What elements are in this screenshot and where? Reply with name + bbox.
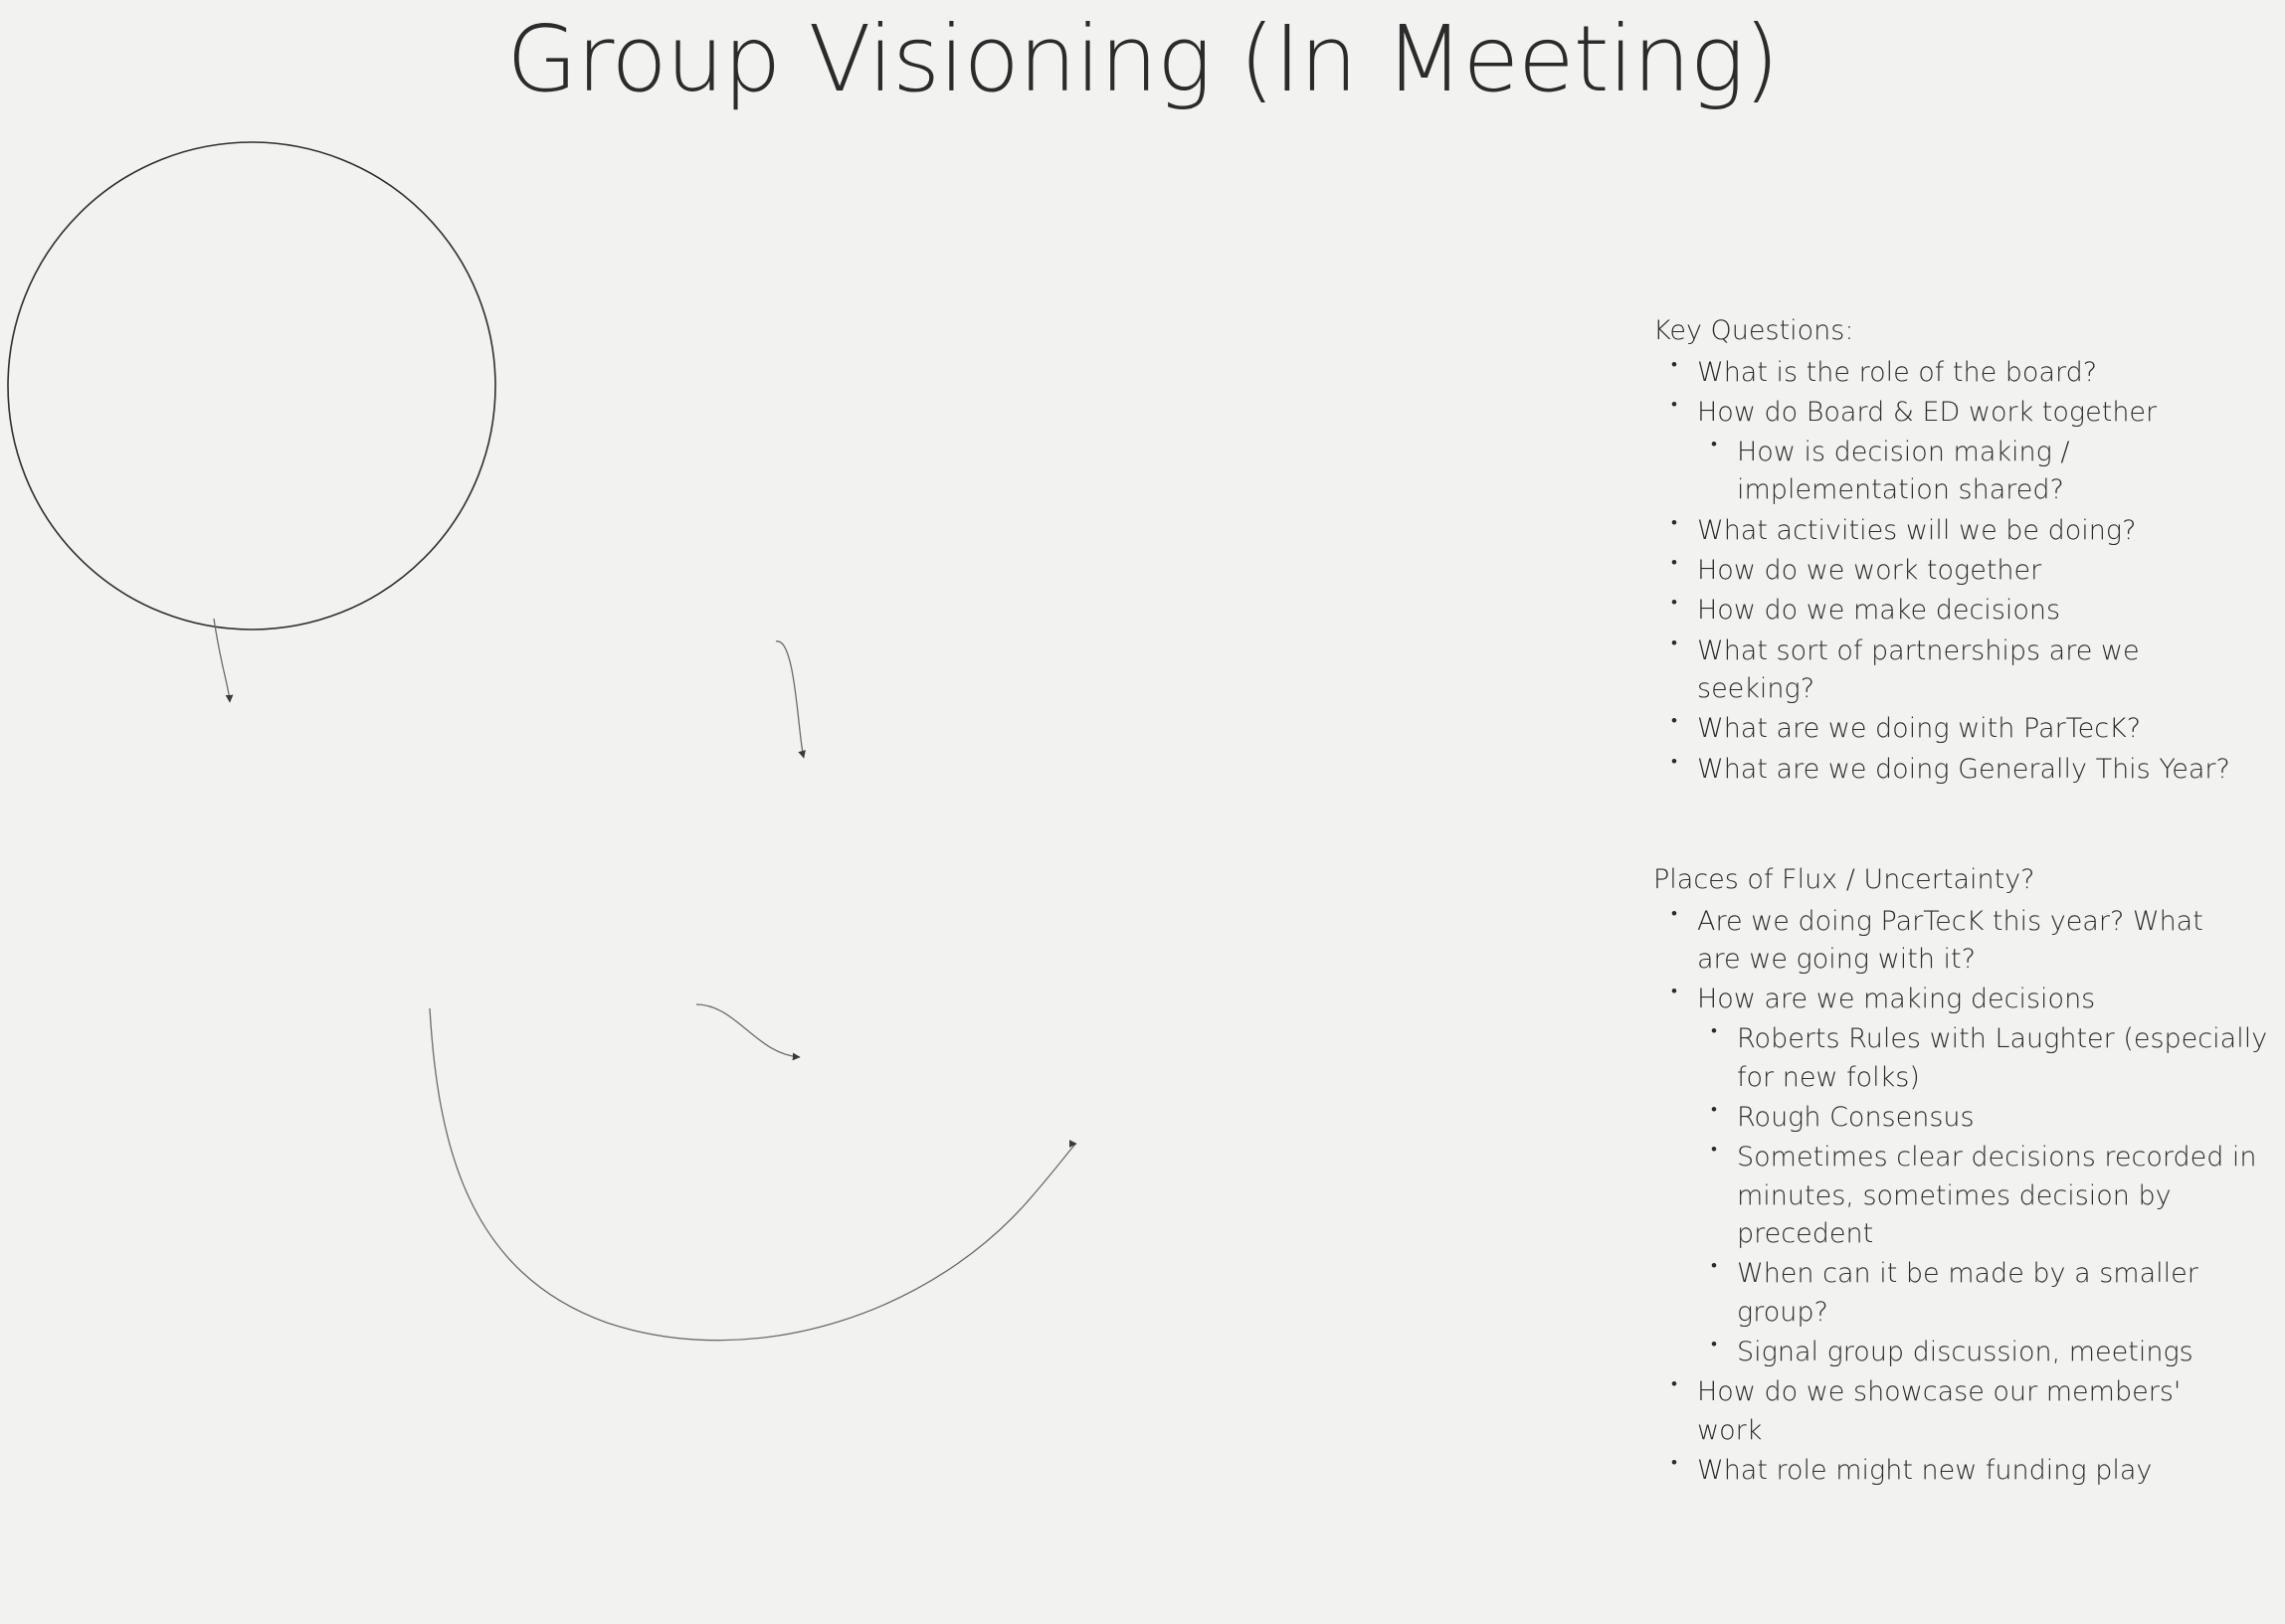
place-of-flux-subitem: Rough Consensus	[1693, 1099, 2285, 1137]
place-of-flux-item: How are we making decisions	[1653, 981, 2250, 1018]
key-question-item: How do Board & ED work together	[1653, 394, 2250, 432]
connector-constraints-reflection	[430, 1008, 1076, 1341]
key-question-subitem: How is decision making / implementation …	[1693, 434, 2285, 510]
key-question-sublist: How is decision making / implementation …	[1653, 434, 2250, 510]
place-of-flux-item: Are we doing ParTecK this year? What are…	[1653, 903, 2250, 980]
connector-gaia-spirit	[696, 1004, 800, 1057]
key-question-item: What sort of partnerships are we seeking…	[1653, 632, 2250, 709]
places-of-flux-notes: Places of Flux / Uncertainty? Are we doi…	[1653, 860, 2250, 1490]
connector-mta-divein	[214, 619, 230, 702]
place-of-flux-subitem: Roberts Rules with Laughter (especially …	[1693, 1020, 2285, 1097]
places-of-flux-list: Are we doing ParTecK this year? What are…	[1653, 903, 2250, 1491]
key-question-item: What is the role of the board?	[1653, 354, 2250, 392]
place-of-flux-sublist: Roberts Rules with Laughter (especially …	[1653, 1020, 2250, 1371]
key-question-item: How do we make decisions	[1653, 592, 2250, 630]
key-question-item: What activities will we be doing?	[1653, 512, 2250, 550]
place-of-flux-subitem: Signal group discussion, meetings	[1693, 1334, 2285, 1371]
place-of-flux-subitem: When can it be made by a smaller group?	[1693, 1255, 2285, 1332]
place-of-flux-item: What role might new funding play	[1653, 1452, 2250, 1490]
grouping-circle	[8, 142, 495, 630]
places-of-flux-heading: Places of Flux / Uncertainty?	[1653, 860, 2250, 901]
place-of-flux-subitem: Sometimes clear decisions recorded in mi…	[1693, 1139, 2285, 1253]
key-questions-heading: Key Questions:	[1653, 311, 2250, 352]
key-questions-list: What is the role of the board?How do Boa…	[1653, 354, 2250, 790]
key-question-item: How do we work together	[1653, 552, 2250, 590]
connector-emergence-magic	[776, 641, 804, 758]
key-questions-notes: Key Questions: What is the role of the b…	[1653, 311, 2250, 789]
key-question-item: What are we doing Generally This Year?	[1653, 751, 2250, 789]
place-of-flux-item: How do we showcase our members' work	[1653, 1373, 2250, 1450]
key-question-item: What are we doing with ParTecK?	[1653, 710, 2250, 748]
page-title: Group Visioning (In Meeting)	[0, 6, 2285, 112]
whiteboard-canvas: Group Visioning (In Meeting) Key Questio…	[0, 0, 2285, 1624]
